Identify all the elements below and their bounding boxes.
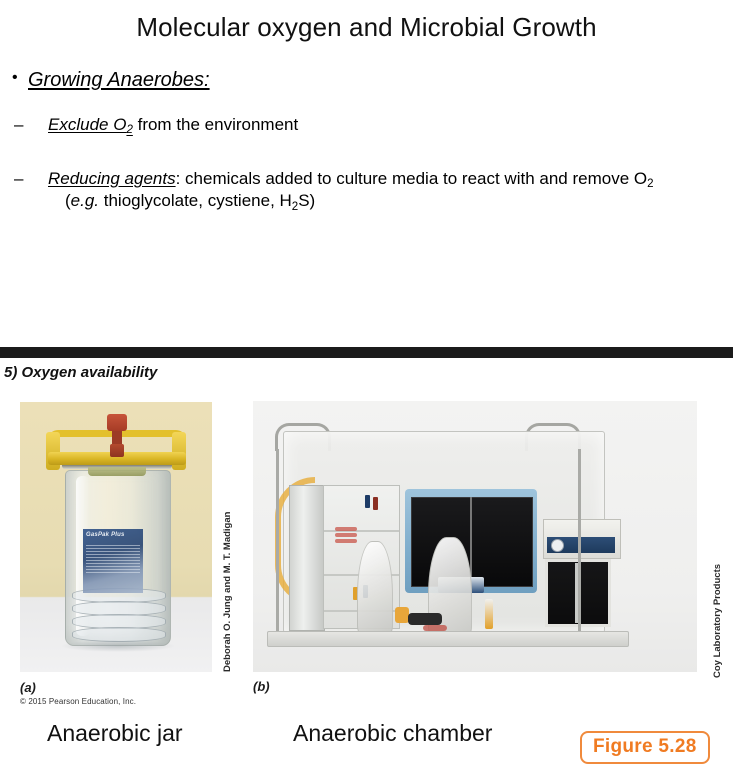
petri-dish-stack (72, 588, 164, 644)
chamber-post-left (276, 449, 279, 645)
bullet-emphasis-subscript: 2 (126, 124, 132, 136)
gaspak-brand-text: GasPak Plus (86, 532, 125, 538)
gaspak-envelope-label: GasPak Plus (83, 529, 143, 593)
bullet-rest-before: : chemicals added to culture media to re… (176, 169, 648, 188)
jar-lid-gasket (88, 467, 146, 476)
photo-b-canvas (253, 401, 697, 672)
chamber-base-platform (267, 631, 629, 647)
bullet-emphasis: Reducing agents (48, 169, 176, 188)
caption-anaerobic-chamber: Anaerobic chamber (293, 720, 492, 747)
anaerobic-jar-photo: GasPak Plus (20, 402, 212, 672)
bullet-emphasis: Exclude O (48, 115, 126, 134)
panel-label-a: (a) (20, 680, 36, 695)
chamber-post-right (578, 449, 581, 645)
chamber-petri-dish (335, 539, 357, 543)
chamber-petri-dish (335, 533, 357, 537)
chamber-dark-tray (408, 613, 442, 625)
bullet-subscript-2: 2 (292, 201, 298, 213)
bullet-level2-reducing-agents: –Reducing agents: chemicals added to cul… (48, 168, 688, 213)
dash-marker-icon: – (31, 114, 48, 136)
section-divider (0, 347, 733, 358)
chamber-petri-dish (335, 527, 357, 531)
jar-shadow (60, 640, 176, 652)
chamber-flask (485, 599, 493, 629)
chamber-vial (373, 497, 378, 510)
chamber-yellow-rack (395, 607, 409, 623)
figure-heading: 5) Oxygen availability (4, 364, 157, 381)
bullet-mid-text: thioglycolate, cystiene, H (99, 191, 292, 210)
gaspak-label-lines (86, 545, 140, 573)
panel-label-b: (b) (253, 679, 270, 694)
bullet-level2-exclude-o2: –Exclude O2 from the environment (48, 114, 688, 136)
figure-number-badge: Figure 5.28 (580, 731, 710, 764)
bullet-italic-eg: e.g. (71, 191, 99, 210)
caption-anaerobic-jar: Anaerobic jar (47, 720, 183, 747)
chamber-glove-left (357, 541, 393, 635)
photo-a-canvas: GasPak Plus (20, 402, 212, 672)
bullet-level1: •Growing Anaerobes: (12, 68, 210, 92)
anaerobic-chamber-photo (253, 401, 697, 672)
chamber-vial (365, 495, 370, 508)
dash-marker-icon: – (31, 168, 48, 190)
jar-valve-stem (112, 431, 122, 445)
copyright-notice: © 2015 Pearson Education, Inc. (20, 697, 136, 706)
chamber-metal-cabinet (289, 485, 325, 631)
bullet-marker-icon: • (12, 68, 28, 87)
bullet-subscript-1: 2 (647, 178, 653, 190)
jar-valve-knob (107, 414, 127, 431)
bullet-level1-label: Growing Anaerobes: (28, 68, 210, 92)
bullet-rest-text: from the environment (138, 115, 299, 134)
bullet-rest-after: S) (298, 191, 315, 210)
chamber-pressure-gauge (551, 539, 564, 552)
page-title: Molecular oxygen and Microbial Growth (0, 12, 733, 43)
jar-valve-collar (110, 444, 124, 457)
photo-credit-b: Coy Laboratory Products (712, 564, 723, 678)
photo-credit-a: Deborah O. Jung and M. T. Madigan (222, 512, 233, 672)
